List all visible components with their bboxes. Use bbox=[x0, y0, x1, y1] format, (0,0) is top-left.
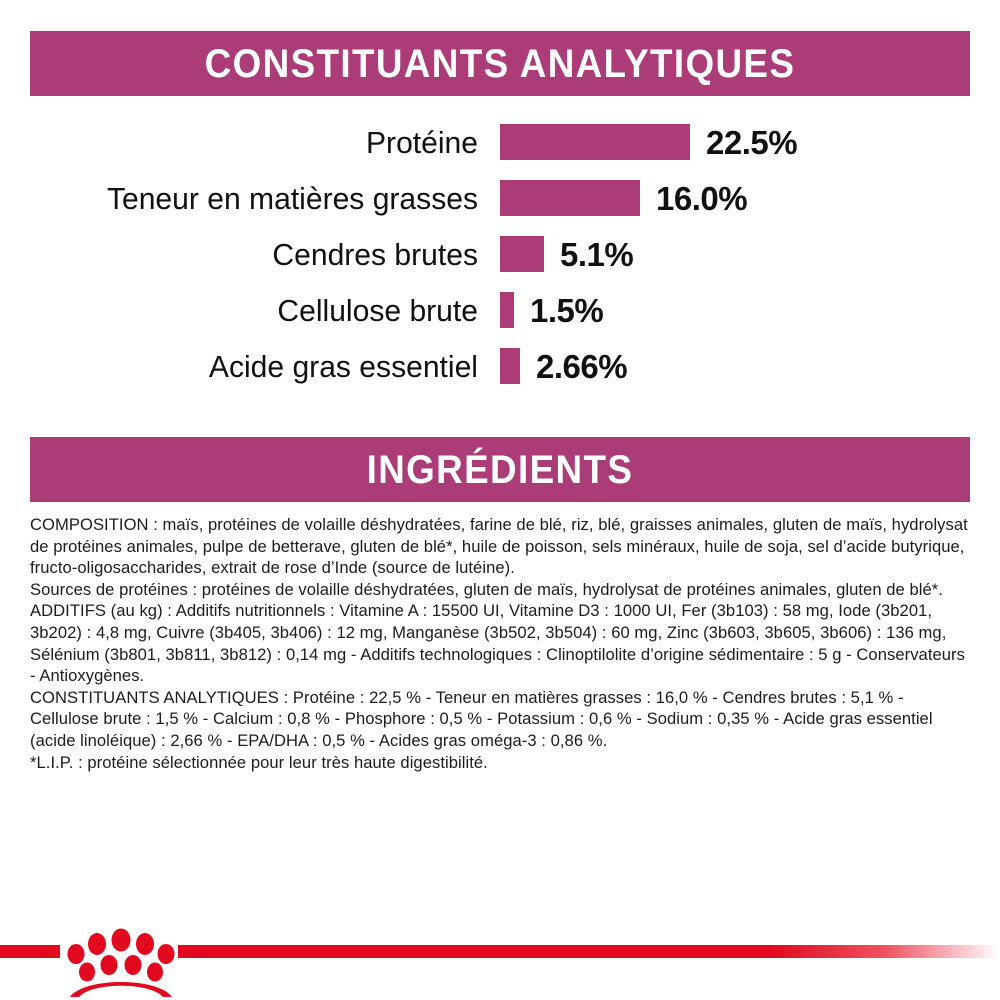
ingredients-text-block: COMPOSITION : maïs, protéines de volaill… bbox=[30, 514, 975, 773]
chart-bar bbox=[500, 124, 690, 160]
chart-bar bbox=[500, 292, 514, 328]
brand-rule-right bbox=[178, 945, 1000, 958]
chart-row-label: Cendres brutes bbox=[14, 239, 478, 270]
chart-bar-value: 22.5% bbox=[706, 126, 797, 159]
chart-row-label: Acide gras essentiel bbox=[14, 351, 478, 382]
chart-row: Cellulose brute1.5% bbox=[0, 282, 1000, 338]
chart-bar-zone: 2.66% bbox=[500, 338, 1000, 394]
ingredients-paragraph: Sources de protéines : protéines de vola… bbox=[30, 579, 975, 601]
chart-row: Acide gras essentiel2.66% bbox=[0, 338, 1000, 394]
chart-bar-zone: 5.1% bbox=[500, 226, 1000, 282]
chart-bar-zone: 1.5% bbox=[500, 282, 1000, 338]
analytics-section-header: CONSTITUANTS ANALYTIQUES bbox=[30, 31, 970, 96]
ingredients-paragraph: CONSTITUANTS ANALYTIQUES : Protéine : 22… bbox=[30, 687, 975, 752]
ingredients-paragraph: *L.I.P. : protéine sélectionnée pour leu… bbox=[30, 752, 975, 774]
chart-bar-value: 5.1% bbox=[560, 238, 633, 271]
chart-row-label: Protéine bbox=[14, 127, 478, 158]
ingredients-section-header: INGRÉDIENTS bbox=[30, 437, 970, 502]
chart-bar bbox=[500, 180, 640, 216]
chart-row-label: Cellulose brute bbox=[14, 295, 478, 326]
chart-bar-value: 1.5% bbox=[530, 294, 603, 327]
ingredients-paragraph: COMPOSITION : maïs, protéines de volaill… bbox=[30, 514, 975, 579]
royal-canin-crown-logo bbox=[62, 925, 180, 997]
footer bbox=[0, 930, 1000, 1000]
analytical-constituents-chart: Protéine22.5%Teneur en matières grasses1… bbox=[0, 114, 1000, 394]
chart-row-label: Teneur en matières grasses bbox=[14, 183, 478, 214]
chart-row: Teneur en matières grasses16.0% bbox=[0, 170, 1000, 226]
chart-bar bbox=[500, 348, 520, 384]
chart-row: Protéine22.5% bbox=[0, 114, 1000, 170]
analytics-section-title: CONSTITUANTS ANALYTIQUES bbox=[205, 44, 796, 84]
chart-bar bbox=[500, 236, 544, 272]
chart-bar-zone: 16.0% bbox=[500, 170, 1000, 226]
chart-bar-value: 16.0% bbox=[656, 182, 747, 215]
ingredients-section-title: INGRÉDIENTS bbox=[367, 450, 634, 490]
ingredients-paragraph: ADDITIFS (au kg) : Additifs nutritionnel… bbox=[30, 600, 975, 686]
chart-bar-zone: 22.5% bbox=[500, 114, 1000, 170]
brand-rule-left bbox=[0, 945, 60, 958]
chart-bar-value: 2.66% bbox=[536, 350, 627, 383]
chart-row: Cendres brutes5.1% bbox=[0, 226, 1000, 282]
